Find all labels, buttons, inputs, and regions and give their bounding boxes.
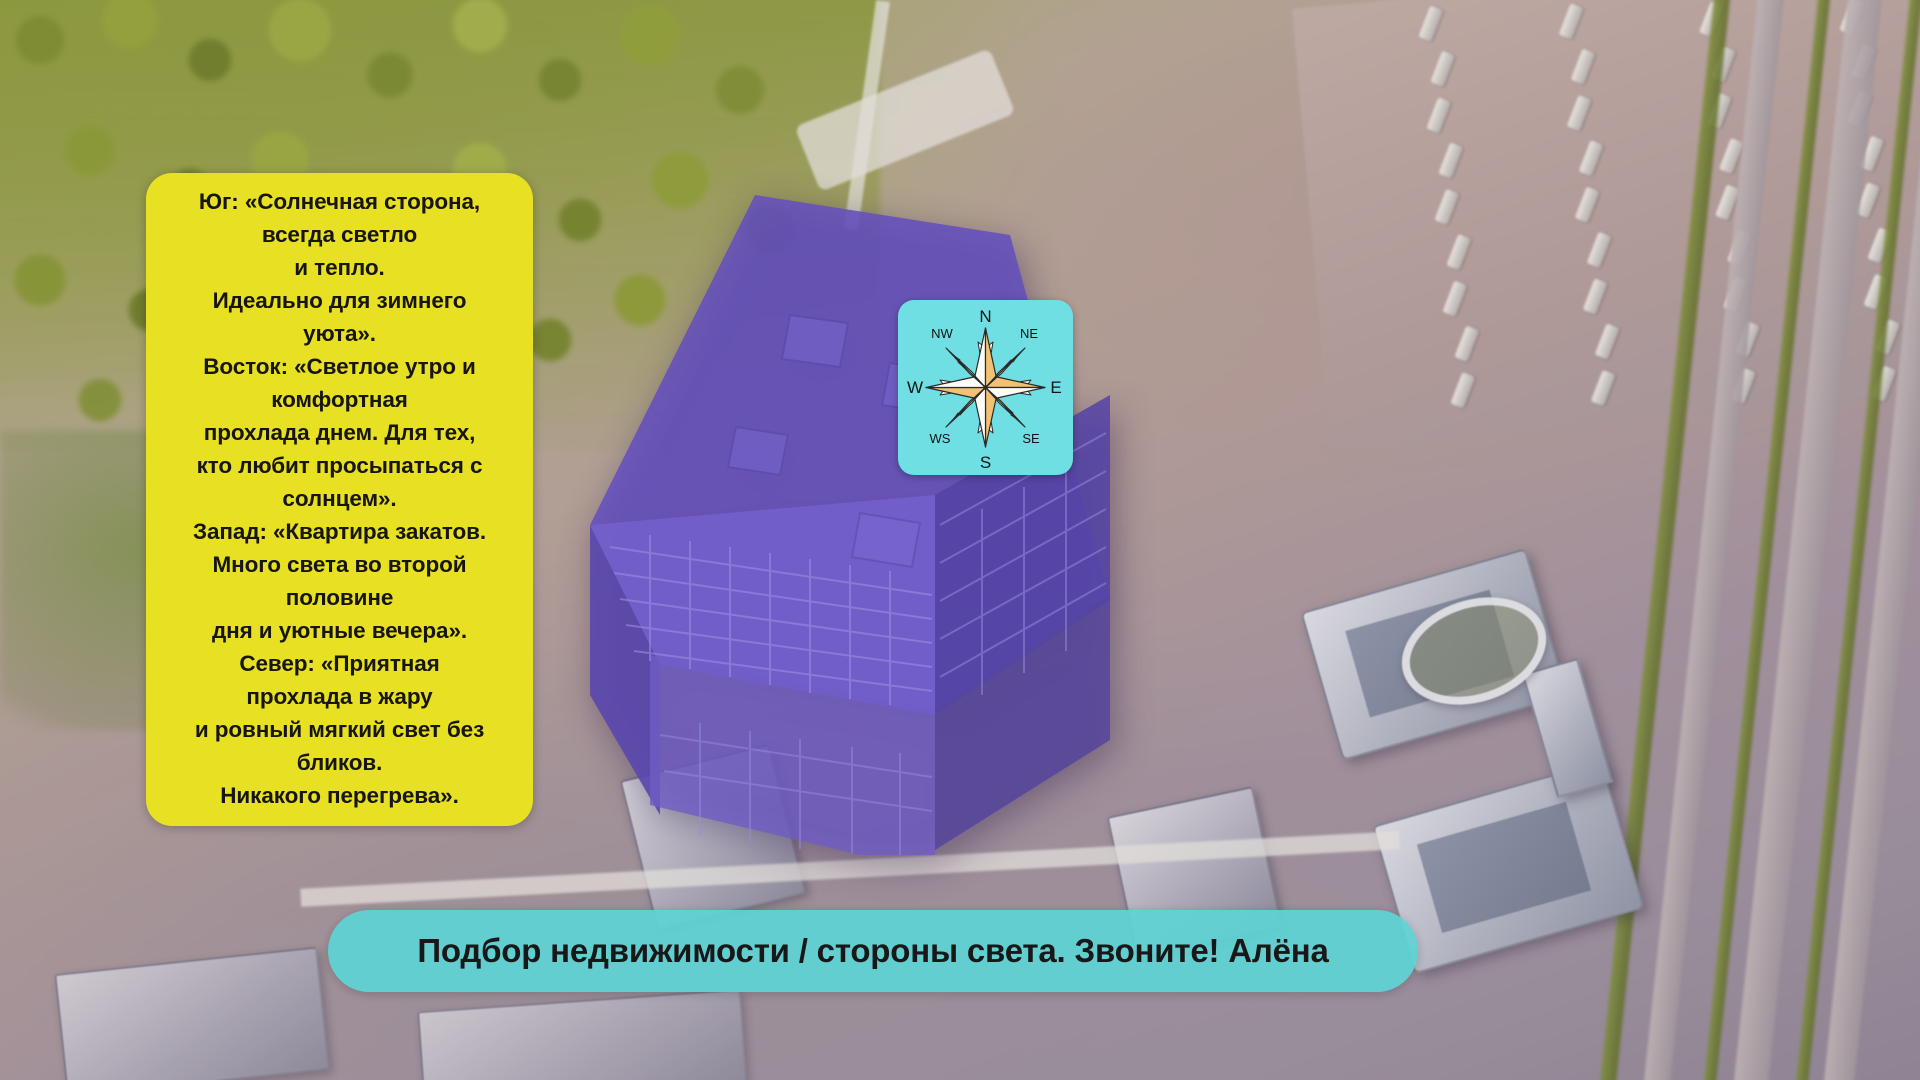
parked-car bbox=[1438, 142, 1463, 179]
highlighted-building-overlay bbox=[590, 195, 1270, 855]
info-card: Юг: «Солнечная сторона,всегда светлои те… bbox=[146, 173, 533, 826]
complex-wing-link bbox=[1522, 658, 1613, 798]
info-card-lines: Юг: «Солнечная сторона,всегда светлои те… bbox=[156, 185, 523, 812]
parked-car bbox=[1559, 3, 1584, 40]
info-card-line: всегда светло bbox=[156, 218, 523, 251]
compass-label-s: S bbox=[980, 453, 991, 472]
compass-label-ne: NE bbox=[1020, 326, 1038, 341]
info-card-line: половине bbox=[156, 581, 523, 614]
compass-rose-icon: N NE E SE S WS W NW bbox=[898, 300, 1073, 475]
cta-banner-text: Подбор недвижимости / стороны света. Зво… bbox=[417, 932, 1328, 970]
parked-car bbox=[1575, 186, 1600, 223]
info-card-line: солнцем». bbox=[156, 482, 523, 515]
parked-car bbox=[1450, 372, 1475, 409]
parked-car bbox=[1434, 189, 1459, 226]
info-card-line: Восток: «Светлое утро и bbox=[156, 350, 523, 383]
info-card-line: Никакого перегрева». bbox=[156, 779, 523, 812]
parked-car bbox=[1454, 325, 1479, 362]
info-card-line: прохлада днем. Для тех, bbox=[156, 416, 523, 449]
parked-car bbox=[1430, 50, 1455, 87]
compass-label-e: E bbox=[1050, 378, 1061, 397]
parked-car bbox=[1442, 280, 1467, 317]
info-card-line: комфортная bbox=[156, 383, 523, 416]
compass-label-w: W bbox=[907, 378, 923, 397]
compass-label-se: SE bbox=[1022, 431, 1040, 446]
cta-banner[interactable]: Подбор недвижимости / стороны света. Зво… bbox=[328, 910, 1418, 992]
info-card-line: уюта». bbox=[156, 317, 523, 350]
info-card-line: и тепло. bbox=[156, 251, 523, 284]
compass-label-n: N bbox=[979, 307, 991, 326]
parked-car bbox=[1571, 48, 1596, 85]
parked-car bbox=[1595, 323, 1620, 360]
parked-car bbox=[1567, 95, 1592, 132]
info-card-line: дня и уютные вечера». bbox=[156, 614, 523, 647]
info-card-line: и ровный мягкий свет без bbox=[156, 713, 523, 746]
info-card-line: бликов. bbox=[156, 746, 523, 779]
parked-car bbox=[1579, 140, 1604, 177]
parked-car bbox=[1418, 5, 1443, 42]
compass-card: N NE E SE S WS W NW bbox=[898, 300, 1073, 475]
info-card-line: прохлада в жару bbox=[156, 680, 523, 713]
poster-canvas: Юг: «Солнечная сторона,всегда светлои те… bbox=[0, 0, 1920, 1080]
info-card-line: кто любит просыпаться с bbox=[156, 449, 523, 482]
parked-car bbox=[1587, 231, 1612, 268]
info-card-line: Юг: «Солнечная сторона, bbox=[156, 185, 523, 218]
parked-car bbox=[1426, 97, 1451, 134]
parked-car bbox=[1446, 234, 1471, 271]
info-card-line: Запад: «Квартира закатов. bbox=[156, 515, 523, 548]
info-card-line: Север: «Приятная bbox=[156, 647, 523, 680]
info-card-line: Много света во второй bbox=[156, 548, 523, 581]
info-card-line: Идеально для зимнего bbox=[156, 284, 523, 317]
compass-label-ws: WS bbox=[930, 431, 951, 446]
parked-car bbox=[1591, 370, 1616, 407]
compass-label-nw: NW bbox=[931, 326, 953, 341]
parked-car bbox=[1583, 278, 1608, 315]
